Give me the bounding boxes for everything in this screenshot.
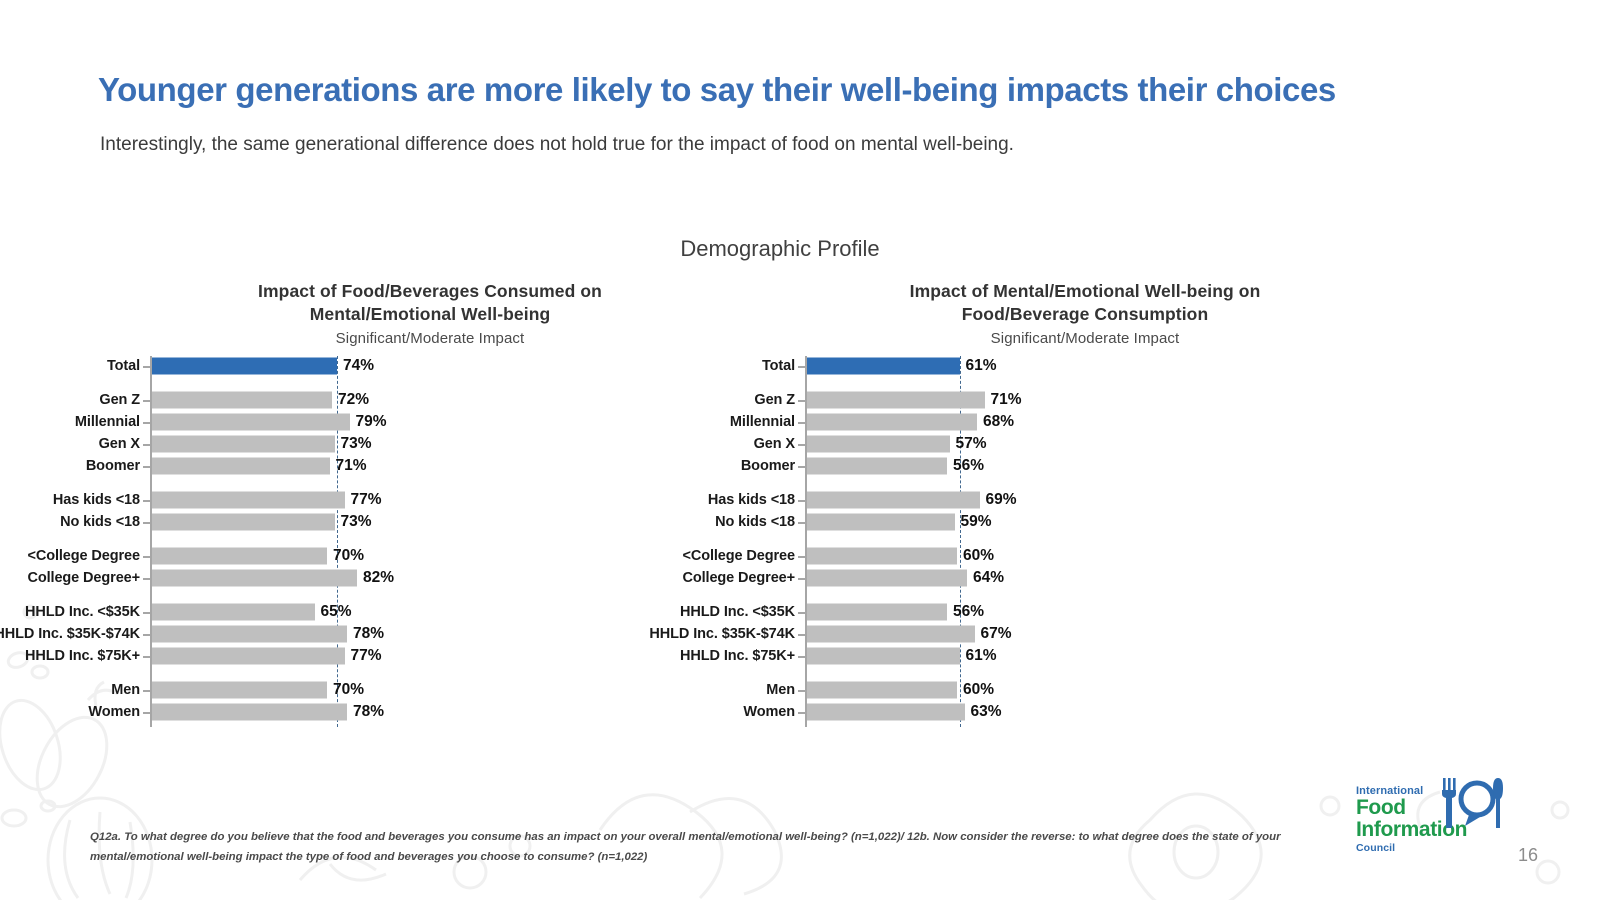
chart-panel-right: Impact of Mental/Emotional Well-being on… — [805, 280, 1365, 780]
bar-value-label: 77% — [351, 647, 382, 665]
bar[interactable] — [807, 604, 947, 621]
bar-category-label: Has kids <18 — [53, 492, 140, 508]
bar-row[interactable]: Men60% — [805, 680, 1365, 701]
bar-category-label: No kids <18 — [60, 514, 140, 530]
section-header: Demographic Profile — [0, 236, 1560, 262]
bar-row[interactable]: Gen X73% — [150, 433, 710, 454]
bar[interactable] — [807, 647, 960, 664]
bar-row[interactable]: HHLD Inc. $75K+77% — [150, 645, 710, 666]
axis-tick — [143, 690, 150, 692]
bar-category-label: Millennial — [75, 414, 140, 430]
bar[interactable] — [807, 548, 957, 565]
bar-value-label: 70% — [333, 547, 364, 565]
bar-category-label: Boomer — [741, 458, 795, 474]
bar-category-label: Women — [88, 704, 140, 720]
axis-tick — [143, 500, 150, 502]
axis-tick — [143, 712, 150, 714]
bar-category-label: Total — [107, 358, 140, 374]
logo-line-food: Food — [1356, 797, 1406, 818]
bar-value-label: 72% — [338, 391, 369, 409]
bar-row[interactable]: Total61% — [805, 356, 1365, 377]
bar[interactable] — [152, 414, 350, 431]
bar-row[interactable]: Men70% — [150, 680, 710, 701]
bar-value-label: 56% — [953, 603, 984, 621]
bar-row[interactable]: HHLD Inc. $35K-$74K67% — [805, 624, 1365, 645]
chart-title-right-line2: Food/Beverage Consumption — [805, 303, 1365, 326]
bar-value-label: 68% — [983, 413, 1014, 431]
bar-value-label: 57% — [956, 435, 987, 453]
axis-tick — [143, 634, 150, 636]
bar-value-label: 61% — [966, 647, 997, 665]
axis-tick — [798, 366, 805, 368]
bar-row[interactable]: HHLD Inc. <$35K65% — [150, 602, 710, 623]
chart-title-right: Impact of Mental/Emotional Well-being on… — [805, 280, 1365, 327]
chart-title-right-line1: Impact of Mental/Emotional Well-being on — [805, 280, 1365, 303]
bar-category-label: Gen X — [754, 436, 795, 452]
bar-row[interactable]: <College Degree70% — [150, 546, 710, 567]
axis-tick — [798, 444, 805, 446]
bar[interactable] — [152, 392, 332, 409]
bar-category-label: Gen Z — [754, 392, 795, 408]
bar-value-label: 61% — [966, 357, 997, 375]
bar-value-label: 65% — [321, 603, 352, 621]
bar-value-label: 74% — [343, 357, 374, 375]
bar-value-label: 70% — [333, 681, 364, 699]
bar[interactable] — [807, 492, 980, 509]
chart-subtitle-left: Significant/Moderate Impact — [150, 330, 710, 347]
bar[interactable] — [152, 647, 345, 664]
bar-value-label: 71% — [991, 391, 1022, 409]
logo-line-council: Council — [1356, 842, 1395, 854]
chart-title-left-line2: Mental/Emotional Well-being — [150, 303, 710, 326]
axis-tick — [798, 556, 805, 558]
axis-tick — [143, 656, 150, 658]
bar-row[interactable]: Gen Z72% — [150, 390, 710, 411]
bar-row[interactable]: HHLD Inc. <$35K56% — [805, 602, 1365, 623]
bar-category-label: HHLD Inc. <$35K — [25, 604, 140, 620]
bar-category-label: College Degree+ — [27, 570, 140, 586]
bar-row[interactable]: HHLD Inc. $75K+61% — [805, 645, 1365, 666]
bar-row[interactable]: Women78% — [150, 701, 710, 722]
page-title: Younger generations are more likely to s… — [98, 72, 1498, 109]
axis-tick — [798, 422, 805, 424]
bar-category-label: Men — [111, 682, 140, 698]
bar[interactable] — [152, 457, 330, 474]
axis-tick — [798, 690, 805, 692]
bar-row[interactable]: Boomer56% — [805, 455, 1365, 476]
chart-subtitle-right: Significant/Moderate Impact — [805, 330, 1365, 347]
bar-category-label: Boomer — [86, 458, 140, 474]
axis-tick — [143, 522, 150, 524]
bar[interactable] — [152, 703, 347, 720]
bar-value-label: 60% — [963, 547, 994, 565]
bar-category-label: HHLD Inc. <$35K — [680, 604, 795, 620]
bar[interactable] — [807, 435, 950, 452]
bar-row[interactable]: Millennial79% — [150, 412, 710, 433]
bar-category-label: <College Degree — [27, 548, 140, 564]
axis-tick — [143, 578, 150, 580]
plot-area-right: Total61%Gen Z71%Millennial68%Gen X57%Boo… — [805, 356, 1365, 728]
bar[interactable] — [152, 604, 315, 621]
chart-title-left: Impact of Food/Beverages Consumed on Men… — [150, 280, 710, 327]
bar-category-label: HHLD Inc. $75K+ — [25, 648, 140, 664]
bar-value-label: 73% — [341, 435, 372, 453]
bar-row[interactable]: Has kids <1869% — [805, 490, 1365, 511]
bar-row[interactable]: No kids <1873% — [150, 511, 710, 532]
bar-row[interactable]: Boomer71% — [150, 455, 710, 476]
bar-value-label: 71% — [336, 457, 367, 475]
bar-category-label: Total — [762, 358, 795, 374]
bar-row[interactable]: Has kids <1877% — [150, 490, 710, 511]
bar-category-label: No kids <18 — [715, 514, 795, 530]
bar-value-label: 67% — [981, 625, 1012, 643]
bar[interactable] — [807, 682, 957, 699]
axis-tick — [143, 556, 150, 558]
bar[interactable] — [807, 626, 975, 643]
axis-tick — [143, 612, 150, 614]
bar-category-label: Gen Z — [99, 392, 140, 408]
axis-tick — [798, 712, 805, 714]
bar[interactable] — [152, 513, 335, 530]
bar-row[interactable]: Millennial68% — [805, 412, 1365, 433]
axis-tick — [143, 400, 150, 402]
axis-tick — [798, 522, 805, 524]
axis-tick — [798, 400, 805, 402]
axis-tick — [798, 578, 805, 580]
bar-value-label: 82% — [363, 569, 394, 587]
axis-tick — [798, 634, 805, 636]
bar-category-label: Millennial — [730, 414, 795, 430]
bar-value-label: 79% — [356, 413, 387, 431]
bar-category-label: Women — [743, 704, 795, 720]
bar[interactable] — [807, 414, 977, 431]
bar-total-highlight[interactable] — [807, 358, 960, 375]
bar[interactable] — [807, 392, 985, 409]
bar-value-label: 73% — [341, 513, 372, 531]
bar-value-label: 77% — [351, 491, 382, 509]
bar-value-label: 64% — [973, 569, 1004, 587]
bar-value-label: 59% — [961, 513, 992, 531]
bar-value-label: 69% — [986, 491, 1017, 509]
bar-category-label: HHLD Inc. $75K+ — [680, 648, 795, 664]
bar-row[interactable]: Women63% — [805, 701, 1365, 722]
bar-row[interactable]: College Degree+82% — [150, 567, 710, 588]
bar[interactable] — [807, 569, 967, 586]
axis-tick — [143, 466, 150, 468]
axis-tick — [798, 656, 805, 658]
bar-value-label: 78% — [353, 625, 384, 643]
bar-row[interactable]: <College Degree60% — [805, 546, 1365, 567]
footnote: Q12a. To what degree do you believe that… — [90, 828, 1320, 868]
axis-tick — [798, 466, 805, 468]
axis-tick — [798, 500, 805, 502]
bar-value-label: 56% — [953, 457, 984, 475]
bar[interactable] — [152, 435, 335, 452]
bar-row[interactable]: Total74% — [150, 356, 710, 377]
fork-plate-knife-icon — [1440, 776, 1506, 830]
bar-category-label: HHLD Inc. $35K-$74K — [649, 626, 795, 642]
bar-row[interactable]: No kids <1859% — [805, 511, 1365, 532]
page-number: 16 — [1518, 845, 1538, 866]
axis-tick — [798, 612, 805, 614]
bar[interactable] — [152, 492, 345, 509]
bar-total-highlight[interactable] — [152, 358, 337, 375]
bar[interactable] — [807, 703, 965, 720]
bar[interactable] — [152, 626, 347, 643]
chart-title-left-line1: Impact of Food/Beverages Consumed on — [150, 280, 710, 303]
axis-tick — [143, 444, 150, 446]
bar-category-label: Has kids <18 — [708, 492, 795, 508]
page-subtitle: Interestingly, the same generational dif… — [100, 134, 1520, 156]
bar[interactable] — [807, 457, 947, 474]
bar[interactable] — [152, 682, 327, 699]
bar-row[interactable]: Gen X57% — [805, 433, 1365, 454]
bar-category-label: Men — [766, 682, 795, 698]
bar[interactable] — [152, 569, 357, 586]
bar-category-label: HHLD Inc. $35K-$74K — [0, 626, 140, 642]
bar-value-label: 78% — [353, 703, 384, 721]
bar-category-label: Gen X — [99, 436, 140, 452]
bar-category-label: <College Degree — [682, 548, 795, 564]
bar-row[interactable]: HHLD Inc. $35K-$74K78% — [150, 624, 710, 645]
chart-panel-left: Impact of Food/Beverages Consumed on Men… — [150, 280, 710, 780]
axis-tick — [143, 366, 150, 368]
bar-row[interactable]: Gen Z71% — [805, 390, 1365, 411]
bar[interactable] — [807, 513, 955, 530]
bar[interactable] — [152, 548, 327, 565]
bar-category-label: College Degree+ — [682, 570, 795, 586]
bar-value-label: 60% — [963, 681, 994, 699]
axis-tick — [143, 422, 150, 424]
bar-value-label: 63% — [971, 703, 1002, 721]
bar-row[interactable]: College Degree+64% — [805, 567, 1365, 588]
ific-logo: International Food Information Council — [1348, 778, 1508, 866]
plot-area-left: Total74%Gen Z72%Millennial79%Gen X73%Boo… — [150, 356, 710, 728]
